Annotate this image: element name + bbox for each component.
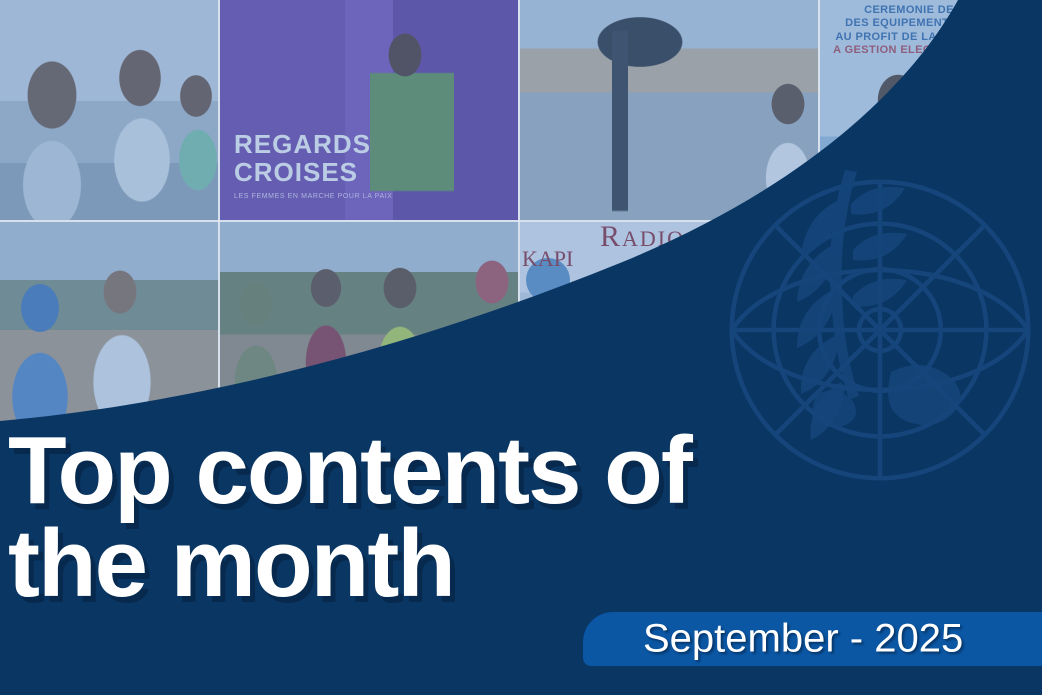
date-label: September - 2025	[643, 617, 963, 662]
date-banner: September - 2025	[583, 612, 1042, 666]
page-title: Top contents of the month	[8, 424, 908, 610]
top-contents-poster: REGARDSCROISES LES FEMMES EN MARCHE POUR…	[0, 0, 1042, 695]
